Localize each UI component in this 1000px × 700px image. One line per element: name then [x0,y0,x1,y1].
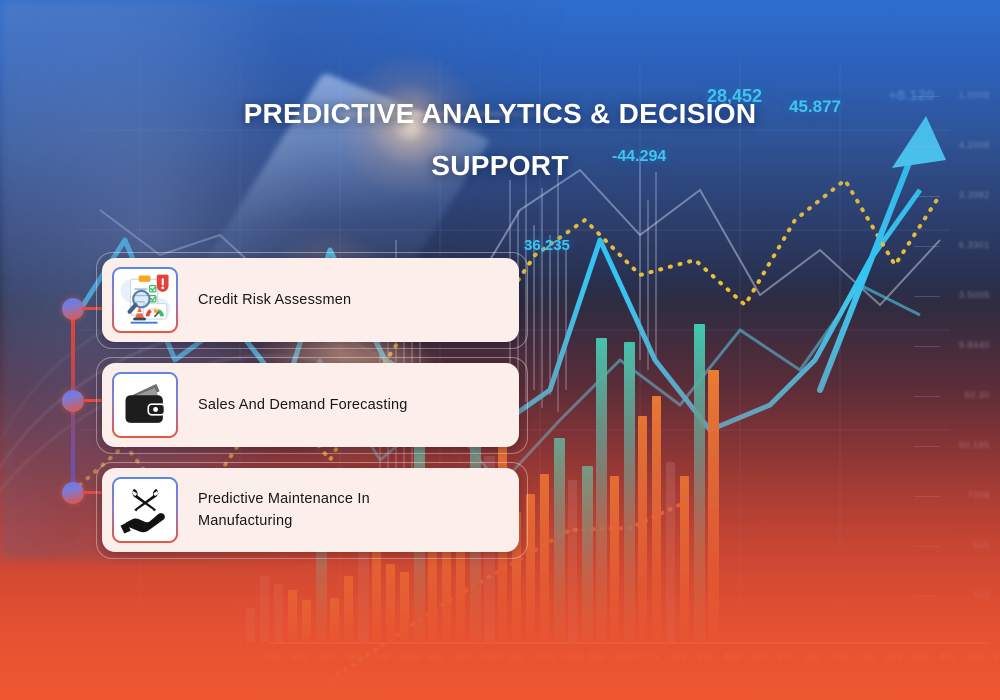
chart-x-tick-label: 790 [859,652,876,662]
card-frame-credit-risk-assessment: Credit Risk Assessmen [96,252,528,349]
label-line-2: Manufacturing [198,510,370,532]
chart-x-tick-label: 768 [832,652,849,662]
feature-card-label-predictive-maintenance: Predictive Maintenance In Manufacturing [198,488,370,533]
chart-y-tick [914,246,940,247]
label-line-1: Sales And Demand Forecasting [198,397,408,413]
chart-x-tick-label: 200 [265,652,282,662]
feature-card-credit-risk-assessment[interactable]: Credit Risk Assessmen [102,258,519,342]
chart-y-tick-label: 3.3982 [959,190,990,200]
chart-x-tick-label: 500 [319,652,336,662]
chart-bar [694,324,705,642]
chart-bar [624,342,635,642]
chart-bar [652,396,661,642]
chart-x-axis [270,642,990,644]
credit-risk-clipboard-icon [112,267,178,333]
chart-x-tick-label: 565 [589,652,606,662]
rail-node-2 [62,390,84,412]
chart-y-tick [914,146,940,147]
chart-y-tick-label: 60.30 [964,390,990,400]
label-line-1: Predictive Maintenance In [198,488,370,510]
chart-x-tick-label: 565 [346,652,363,662]
chart-x-tick-label: 3965 [481,652,503,662]
chart-x-tick-label: 819 [697,652,714,662]
chart-y-tick [914,596,940,597]
chart-x-tick-label: 4936 [562,652,584,662]
chart-y-tick [914,196,940,197]
chart-bar [638,416,647,642]
connector-rail [62,290,84,505]
page-title-line-1: PREDICTIVE ANALYTICS & DECISION [160,88,840,140]
chart-bar [568,480,577,642]
chart-x-tick-label: 858 [913,652,930,662]
feature-card-label-sales-demand-forecasting: Sales And Demand Forecasting [198,394,408,416]
chart-x-tick-label: 870 [778,652,795,662]
chart-x-tick-label: 209 [373,652,390,662]
chart-x-tick-labels: 2006055005652093426360298396558517504936… [265,652,1000,670]
chart-y-tick-labels: 1.00084.20083.39826.33013.50059.844060.3… [936,60,996,700]
card-frame-predictive-maintenance: Predictive Maintenance In Manufacturing [96,462,528,559]
feature-card-sales-demand-forecasting[interactable]: Sales And Demand Forecasting [102,363,519,447]
wallet-icon [112,372,178,438]
chart-x-tick-label: 5689 [616,652,638,662]
chart-y-tick-label: 90.185 [959,440,990,450]
chart-x-tick-label: 585 [508,652,525,662]
chart-y-tick [914,396,940,397]
card-frame-sales-demand-forecasting: Sales And Demand Forecasting [96,357,528,454]
rail-node-1 [62,298,84,320]
chart-y-tick-label: 4.2008 [959,140,990,150]
chart-y-tick [914,446,940,447]
label-line-1: Credit Risk Assessmen [198,292,351,308]
chart-x-tick-label: 848 [886,652,903,662]
chart-bar [330,598,339,642]
rail-node-3 [62,482,84,504]
chart-y-tick [914,496,940,497]
page-title-line-2: SUPPORT [160,140,840,192]
chart-x-tick-label: 298 [454,652,471,662]
chart-x-tick-label: 839 [724,652,741,662]
chart-bar [596,338,607,642]
feature-card-list: Credit Risk Assessmen Sales And Deman [96,252,528,567]
chart-bar [666,462,675,642]
chart-y-tick-label: 7308 [968,490,990,500]
chart-x-tick-label: 074 [643,652,660,662]
page-title: PREDICTIVE ANALYTICS & DECISION SUPPORT [160,88,840,192]
chart-y-tick-label: 420 [973,590,990,600]
chart-y-tick-label: 531 [973,540,990,550]
chart-bar [680,476,689,642]
chart-bar [582,466,593,642]
chart-x-tick-label: 950 [805,652,822,662]
chart-y-tick-label: 9.8440 [959,340,990,350]
chart-bar [708,370,719,642]
chart-x-tick-label: 1750 [535,652,557,662]
hand-wrench-icon [112,477,178,543]
chart-y-tick [914,346,940,347]
chart-y-tick [914,546,940,547]
chart-x-tick-label: 605 [292,652,309,662]
chart-y-tick [914,296,940,297]
feature-card-label-credit-risk-assessment: Credit Risk Assessmen [198,289,351,311]
chart-value-label: 36,235 [524,237,570,254]
chart-value-label: +8.120 [888,87,934,104]
chart-y-tick-label: 6.3301 [959,240,990,250]
chart-x-tick-label: 3426 [400,652,422,662]
chart-y-tick-label: 3.5005 [959,290,990,300]
poster-canvas: 2006055005652093426360298396558517504936… [0,0,1000,700]
chart-bar [610,476,619,642]
chart-x-tick-label: 360 [427,652,444,662]
chart-x-tick-label: 830 [751,652,768,662]
chart-x-tick-label: 658 [670,652,687,662]
feature-card-predictive-maintenance[interactable]: Predictive Maintenance In Manufacturing [102,468,519,552]
chart-y-tick-label: 1.0008 [959,90,990,100]
